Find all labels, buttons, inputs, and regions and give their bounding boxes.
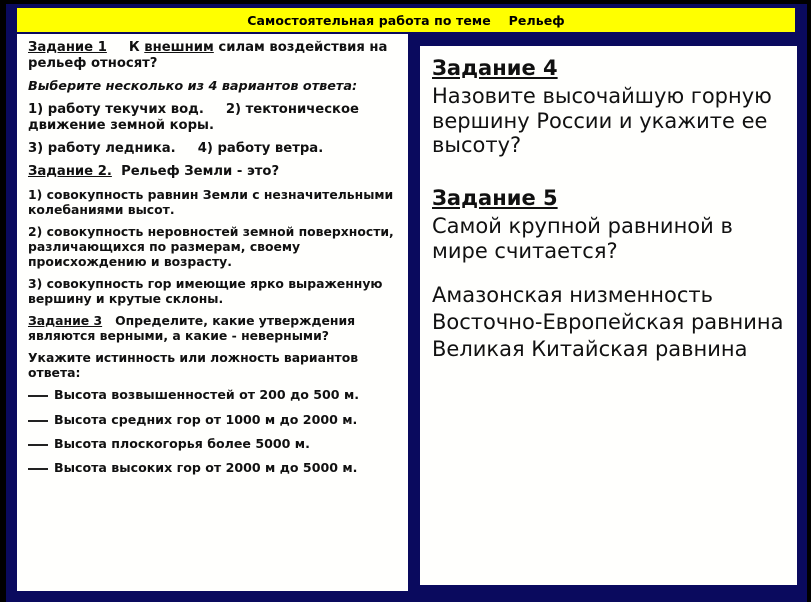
task1-option-4: 4) работу ветра. — [198, 141, 324, 156]
task3-statement-row[interactable]: Высота средних гор от 1000 м до 2000 м. — [28, 412, 399, 427]
frame-right-edge — [807, 0, 811, 602]
task3-statement-row[interactable]: Высота плоскогорья более 5000 м. — [28, 436, 399, 451]
task2-option-3: 3) совокупность гор имеющие ярко выражен… — [28, 276, 399, 306]
task3-question: Задание 3 Определите, какие утверждения … — [28, 313, 399, 343]
task5-option[interactable]: Восточно-Европейская равнина — [432, 310, 787, 335]
title-banner: Самостоятельная работа по теме Рельеф — [17, 8, 795, 32]
task3-statement-label: Высота средних гор от 1000 м до 2000 м. — [54, 412, 357, 427]
right-content-panel: Задание 4 Назовите высочайшую горную вер… — [420, 46, 797, 585]
task5-option[interactable]: Великая Китайская равнина — [432, 337, 787, 362]
page-title: Самостоятельная работа по теме Рельеф — [247, 13, 565, 28]
answer-blank-input[interactable] — [28, 395, 48, 397]
task3-statement-row[interactable]: Высота возвышенностей от 200 до 500 м. — [28, 387, 399, 402]
task1-question-part1: К — [129, 40, 144, 55]
left-content-panel: Задание 1К внешним силам воздействия на … — [17, 34, 408, 591]
task2-question: Задание 2. Рельеф Земли - это? — [28, 164, 399, 180]
task3-statement-label: Высота высоких гор от 2000 м до 5000 м. — [54, 460, 357, 475]
task5-option[interactable]: Амазонская низменность — [432, 283, 787, 308]
task1-label: Задание 1 — [28, 40, 107, 55]
answer-blank-input[interactable] — [28, 444, 48, 446]
frame-top-edge — [0, 0, 811, 4]
task1-option-3: 3) работу ледника. — [28, 141, 176, 156]
task3-label: Задание 3 — [28, 313, 102, 328]
task2-option-1: 1) совокупность равнин Земли с незначите… — [28, 187, 399, 217]
task5-label: Задание 5 — [432, 186, 787, 211]
task1-options-line1: 1) работу текучих вод.2) тектоническое д… — [28, 102, 399, 134]
task3-instruction: Укажите истинность или ложность варианто… — [28, 350, 399, 380]
answer-blank-input[interactable] — [28, 468, 48, 470]
task1-instruction: Выберите несколько из 4 вариантов ответа… — [28, 79, 399, 95]
section-spacer — [432, 265, 787, 283]
slide-root: Самостоятельная работа по теме Рельеф За… — [0, 0, 811, 602]
task3-statement-label: Высота плоскогорья более 5000 м. — [54, 436, 310, 451]
task4-label: Задание 4 — [432, 56, 787, 81]
answer-blank-input[interactable] — [28, 420, 48, 422]
task1-options-line2: 3) работу ледника.4) работу ветра. — [28, 141, 399, 157]
task5-question: Самой крупной равниной в мире считается? — [432, 214, 787, 264]
section-spacer — [432, 160, 787, 186]
task4-question: Назовите высочайшую горную вершину Росси… — [432, 84, 787, 158]
frame-left-edge — [0, 0, 6, 602]
task1-question: Задание 1К внешним силам воздействия на … — [28, 40, 399, 72]
task2-question-text: Рельеф Земли - это? — [121, 164, 279, 179]
task2-option-2: 2) совокупность неровностей земной повер… — [28, 224, 399, 269]
task2-label: Задание 2. — [28, 164, 112, 179]
task3-statement-row[interactable]: Высота высоких гор от 2000 м до 5000 м. — [28, 460, 399, 475]
task1-question-keyword: внешним — [144, 40, 214, 55]
task1-option-1: 1) работу текучих вод. — [28, 102, 204, 117]
task3-statement-label: Высота возвышенностей от 200 до 500 м. — [54, 387, 359, 402]
